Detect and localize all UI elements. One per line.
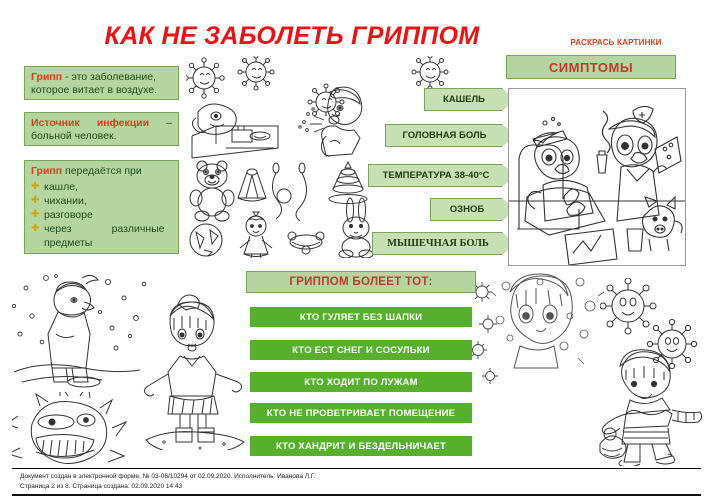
toys-illustration xyxy=(180,158,380,258)
symptoms-header: СИМПТОМЫ xyxy=(506,55,676,79)
sick-person-in-bed-illustration xyxy=(186,86,296,164)
colorize-note: РАСКРАСЬ КАРТИНКИ xyxy=(556,38,676,47)
footer-line-1: Документ создан в электронной форме. № 0… xyxy=(20,472,620,482)
info-text: - это заболевание, xyxy=(62,71,156,83)
footer-divider-top xyxy=(12,468,701,469)
info-box-source: Источник инфекции – больной человек. xyxy=(24,112,179,146)
boy-with-scarf-illustration xyxy=(596,348,708,466)
list-item-label: разговоре xyxy=(44,209,93,221)
risk-list-item-walks-puddles: КТО ХОДИТ ПО ЛУЖАМ xyxy=(250,372,472,392)
info-text-line2: больной человек. xyxy=(31,130,172,143)
list-item: ✚кашле, xyxy=(31,180,172,194)
info-box-transmission: Грипп передаётся при ✚кашле, ✚чихании, ✚… xyxy=(24,160,179,254)
info-highlight: Грипп xyxy=(31,165,62,177)
list-item-label: кашле, xyxy=(44,181,78,193)
info-text: инфекции xyxy=(97,117,149,129)
transmission-list: ✚кашле, ✚чихании, ✚разговоре ✚черезразли… xyxy=(31,180,172,250)
list-item: ✚разговоре xyxy=(31,208,172,222)
list-item: ✚черезразличные xyxy=(31,222,172,236)
list-item: предметы xyxy=(31,236,172,250)
list-item-label: различные xyxy=(112,223,165,235)
symptom-arrow-chills: ОЗНОБ xyxy=(430,198,516,221)
list-item: ✚чихании, xyxy=(31,194,172,208)
symptom-arrow-temperature: ТЕМПЕРАТУРА 38-40°С xyxy=(368,164,516,187)
germ-monster-illustration xyxy=(12,392,132,470)
risk-list-item-idle: КТО ХАНДРИТ И БЕЗДЕЛЬНИЧАЕТ xyxy=(250,436,472,456)
info-text: передаётся при xyxy=(62,165,142,177)
symptom-arrow-cough: КАШЕЛЬ xyxy=(424,88,516,111)
risk-list-item-no-hat: КТО ГУЛЯЕТ БЕЗ ШАПКИ xyxy=(250,307,472,327)
bullet-icon: ✚ xyxy=(31,225,39,233)
info-highlight: Источник xyxy=(31,117,80,129)
bullet-icon: ✚ xyxy=(31,183,39,191)
poster-page: КАК НЕ ЗАБОЛЕТЬ ГРИППОМ xyxy=(0,0,713,501)
list-item-label: чихании, xyxy=(44,195,87,207)
sick-bird-nurse-illustration xyxy=(509,89,685,265)
info-dash: – xyxy=(166,117,172,129)
face-with-germs-illustration xyxy=(492,272,612,382)
list-item-label: через xyxy=(44,223,72,235)
symptom-arrow-headache: ГОЛОВНАЯ БОЛЬ xyxy=(385,124,516,147)
page-title: КАК НЕ ЗАБОЛЕТЬ ГРИППОМ xyxy=(92,22,492,51)
coloring-picture-frame xyxy=(508,88,686,266)
risk-list-item-no-ventilation: КТО НЕ ПРОВЕТРИВАЕТ ПОМЕЩЕНИЕ xyxy=(250,403,472,423)
info-highlight: Грипп xyxy=(31,71,62,83)
virus-icon-cluster-middle xyxy=(468,280,502,390)
info-box-definition: Грипп - это заболевание, которое витает … xyxy=(24,66,179,100)
risk-list-header: ГРИППОМ БОЛЕЕТ ТОТ: xyxy=(246,271,476,293)
footer-divider-bottom xyxy=(12,494,701,496)
footer: Документ создан в электронной форме. № 0… xyxy=(20,472,620,491)
list-item-label: предметы xyxy=(44,237,92,249)
bullet-icon: ✚ xyxy=(31,211,39,219)
footer-line-2: Страница 2 из 8. Страница создана: 02.09… xyxy=(20,482,620,492)
bullet-icon: ✚ xyxy=(31,197,39,205)
sneezing-boy-illustration xyxy=(296,80,380,166)
risk-list-item-eats-snow: КТО ЕСТ СНЕГ И СОСУЛЬКИ xyxy=(250,340,472,360)
symptom-arrow-muscle-pain: МЫШЕЧНАЯ БОЛЬ xyxy=(372,232,516,255)
girl-in-puddle-illustration xyxy=(140,290,250,450)
info-text-line2: которое витает в воздухе. xyxy=(31,84,172,97)
